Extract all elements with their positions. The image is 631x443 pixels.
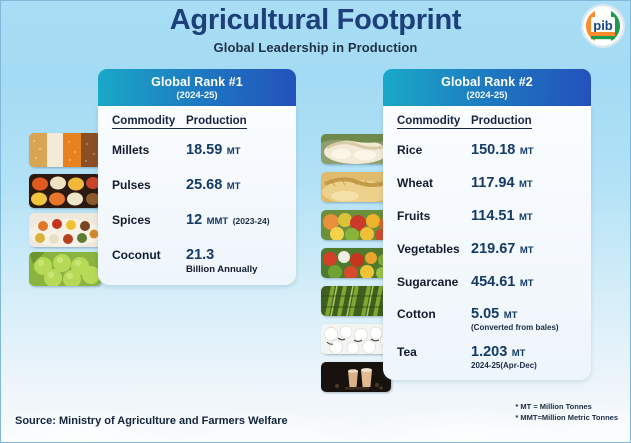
card-2-column-headers: Commodity Production xyxy=(383,115,591,129)
value-unit: MT xyxy=(520,245,534,256)
value-number: 5.05 xyxy=(471,306,499,322)
svg-text:pib: pib xyxy=(593,18,613,33)
table-row: Pulses 25.68 MT xyxy=(98,176,296,194)
value-note: Billion Annually xyxy=(186,264,296,275)
table-row: Millets 18.59 MT xyxy=(98,141,296,159)
sugarcane-thumbnail xyxy=(321,286,391,316)
table-row: Spices 12 MMT (2023-24) xyxy=(98,211,296,229)
page-subtitle: Global Leadership in Production xyxy=(1,40,630,55)
commodity-name: Vegetables xyxy=(397,240,471,256)
source-text: Source: Ministry of Agriculture and Farm… xyxy=(15,415,288,427)
legend-line-mt: * MT = Million Tonnes xyxy=(515,401,618,413)
table-row: Fruits 114.51 MT xyxy=(383,207,591,225)
commodity-name: Cotton xyxy=(397,305,471,321)
value-number: 1.203 xyxy=(471,344,507,360)
column-header-production: Production xyxy=(186,115,247,129)
value-unit: MT xyxy=(227,146,241,157)
card-1-year-label: (2024-25) xyxy=(102,90,292,101)
value-unit: MT xyxy=(519,212,533,223)
column-header-commodity: Commodity xyxy=(397,115,471,129)
commodity-name: Wheat xyxy=(397,174,471,190)
value-number: 114.51 xyxy=(471,208,515,224)
legend-line-mmt: * MMT=Million Metric Tonnes xyxy=(515,412,618,424)
cotton-thumbnail xyxy=(321,324,391,354)
column-header-production: Production xyxy=(471,115,532,129)
value-unit: MT xyxy=(227,181,241,192)
poster-header: Agricultural Footprint Global Leadership… xyxy=(1,5,630,55)
rice-thumbnail xyxy=(321,134,391,164)
value-unit: MT xyxy=(512,348,526,359)
table-row: Cotton 5.05 MT (Converted from bales) xyxy=(383,305,591,332)
value-number: 454.61 xyxy=(471,274,515,290)
commodity-name: Tea xyxy=(397,343,471,359)
value-unit: MMT xyxy=(207,216,229,227)
value-unit: MT xyxy=(520,146,534,157)
spices-thumbnail xyxy=(29,213,101,247)
commodity-name: Pulses xyxy=(112,176,186,192)
card-1-rank-label: Global Rank #1 xyxy=(102,75,292,89)
production-value: 114.51 MT xyxy=(471,207,591,225)
table-row: Coconut 21.3 Billion Annually xyxy=(98,246,296,275)
value-number: 25.68 xyxy=(186,177,222,193)
fruits-thumbnail xyxy=(321,210,391,240)
column-header-commodity: Commodity xyxy=(112,115,186,129)
value-number: 21.3 xyxy=(186,247,214,263)
card-2-rank-label: Global Rank #2 xyxy=(387,75,587,89)
value-period: (2023-24) xyxy=(233,216,270,226)
unit-legend: * MT = Million Tonnes * MMT=Million Metr… xyxy=(515,401,618,424)
card-global-rank-2: Global Rank #2 (2024-25) Commodity Produ… xyxy=(383,69,591,380)
card-global-rank-1: Global Rank #1 (2024-25) Commodity Produ… xyxy=(98,69,296,285)
card-2-header: Global Rank #2 (2024-25) xyxy=(383,69,591,106)
commodity-name: Rice xyxy=(397,141,471,157)
coconut-thumbnail xyxy=(29,252,101,286)
commodity-name: Fruits xyxy=(397,207,471,223)
production-value: 1.203 MT 2024-25(Apr-Dec) xyxy=(471,343,591,370)
value-number: 219.67 xyxy=(471,241,515,257)
commodity-name: Spices xyxy=(112,211,186,227)
card-2-body: Commodity Production Rice 150.18 MT Whea… xyxy=(383,106,591,380)
card-1-header: Global Rank #1 (2024-25) xyxy=(98,69,296,106)
value-number: 117.94 xyxy=(471,175,515,191)
production-value: 25.68 MT xyxy=(186,176,296,194)
page-title: Agricultural Footprint xyxy=(1,5,630,36)
commodity-name: Coconut xyxy=(112,246,186,262)
production-value: 12 MMT (2023-24) xyxy=(186,211,296,229)
value-unit: MT xyxy=(519,179,533,190)
table-row: Vegetables 219.67 MT xyxy=(383,240,591,258)
production-value: 454.61 MT xyxy=(471,273,591,291)
vegetables-thumbnail xyxy=(321,248,391,278)
wheat-thumbnail xyxy=(321,172,391,202)
table-row: Sugarcane 454.61 MT xyxy=(383,273,591,291)
value-note: 2024-25(Apr-Dec) xyxy=(471,361,591,370)
production-value: 5.05 MT (Converted from bales) xyxy=(471,305,591,332)
value-note: (Converted from bales) xyxy=(471,323,591,332)
value-number: 18.59 xyxy=(186,142,222,158)
table-row: Rice 150.18 MT xyxy=(383,141,591,159)
commodity-name: Sugarcane xyxy=(397,273,471,289)
commodity-name: Millets xyxy=(112,141,186,157)
production-value: 21.3 Billion Annually xyxy=(186,246,296,275)
value-unit: MT xyxy=(520,278,534,289)
value-unit: MT xyxy=(504,310,518,321)
millets-thumbnail xyxy=(29,133,101,167)
production-value: 18.59 MT xyxy=(186,141,296,159)
tea-thumbnail xyxy=(321,362,391,392)
card-1-column-headers: Commodity Production xyxy=(98,115,296,129)
infographic-poster: Agricultural Footprint Global Leadership… xyxy=(0,0,631,443)
pib-logo-icon: pib xyxy=(581,4,625,48)
production-value: 219.67 MT xyxy=(471,240,591,258)
table-row: Wheat 117.94 MT xyxy=(383,174,591,192)
card-1-body: Commodity Production Millets 18.59 MT Pu… xyxy=(98,106,296,285)
pulses-thumbnail xyxy=(29,174,101,208)
table-row: Tea 1.203 MT 2024-25(Apr-Dec) xyxy=(383,343,591,370)
value-number: 150.18 xyxy=(471,142,515,158)
production-value: 117.94 MT xyxy=(471,174,591,192)
value-number: 12 xyxy=(186,212,202,228)
production-value: 150.18 MT xyxy=(471,141,591,159)
card-2-year-label: (2024-25) xyxy=(387,90,587,101)
